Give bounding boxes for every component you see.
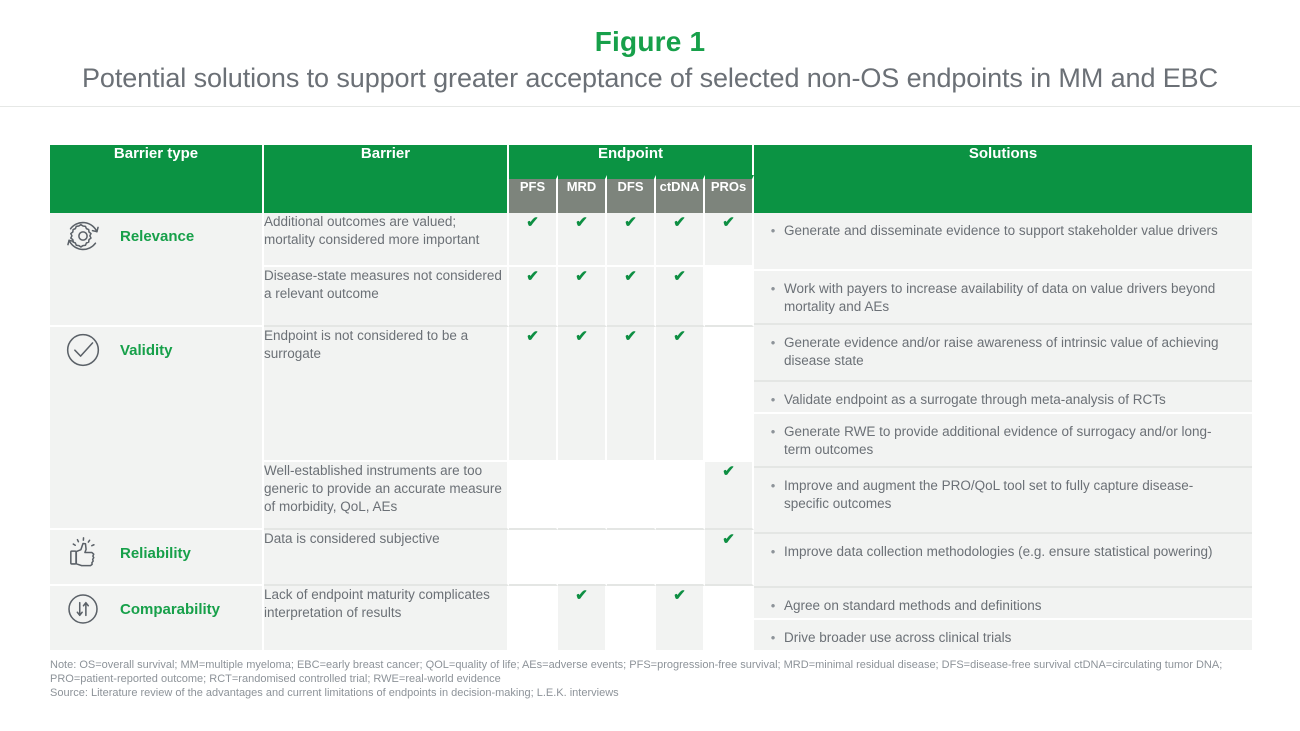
footnote-source: Source: Literature review of the advanta…: [50, 686, 1260, 700]
list-item: • Improve and augment the PRO/QoL tool s…: [754, 468, 1252, 534]
endpoint-check-mrd: ✔: [558, 213, 607, 267]
bullet-icon: •: [762, 597, 784, 614]
table-head-row-1: Barrier type Barrier Endpoint Solutions: [50, 145, 1252, 175]
list-item: • Generate RWE to provide additional evi…: [754, 414, 1252, 468]
endpoint-empty-ctdna: [656, 462, 705, 530]
barrier-cell: Additional outcomes are valued; mortalit…: [264, 213, 509, 267]
endpoint-check-ctdna: ✔: [656, 213, 705, 267]
footnote-note: Note: OS=overall survival; MM=multiple m…: [50, 658, 1260, 686]
bullet-icon: •: [762, 477, 784, 494]
table-row: Relevance Additional outcomes are valued…: [50, 213, 1252, 267]
list-item: • Generate and disseminate evidence to s…: [754, 213, 1252, 271]
column-header-pros: PROs: [705, 175, 754, 213]
list-item: • Agree on standard methods and definiti…: [754, 588, 1252, 620]
endpoint-check-dfs: ✔: [607, 327, 656, 462]
compare-arrows-circle-icon: [60, 586, 106, 632]
endpoint-check-ctdna: ✔: [656, 327, 705, 462]
endpoint-empty-dfs: [607, 530, 656, 586]
endpoint-empty-pros: [705, 586, 754, 652]
barrier-type-label: Reliability: [120, 545, 191, 562]
barrier-cell: Lack of endpoint maturity complicates in…: [264, 586, 509, 652]
barrier-type-label: Validity: [120, 342, 173, 359]
endpoint-empty-dfs: [607, 586, 656, 652]
thumbs-up-icon: [60, 530, 106, 576]
endpoint-check-ctdna: ✔: [656, 267, 705, 327]
table-body: Relevance Additional outcomes are valued…: [50, 213, 1252, 652]
column-header-solutions: Solutions: [754, 145, 1252, 213]
bullet-icon: •: [762, 629, 784, 646]
list-item: • Generate evidence and/or raise awarene…: [754, 325, 1252, 382]
list-item: • Improve data collection methodologies …: [754, 534, 1252, 588]
table-head: Barrier type Barrier Endpoint Solutions …: [50, 145, 1252, 213]
endpoint-check-dfs: ✔: [607, 213, 656, 267]
barrier-cell: Data is considered subjective: [264, 530, 509, 586]
barrier-cell: Disease-state measures not considered a …: [264, 267, 509, 327]
column-header-dfs: DFS: [607, 175, 656, 213]
barrier-type-label: Relevance: [120, 228, 194, 245]
list-item: • Validate endpoint as a surrogate throu…: [754, 382, 1252, 414]
bullet-icon: •: [762, 222, 784, 239]
figure-title: Potential solutions to support greater a…: [0, 61, 1300, 96]
endpoint-empty-mrd: [558, 530, 607, 586]
list-item: • Drive broader use across clinical tria…: [754, 620, 1252, 652]
endpoint-check-mrd: ✔: [558, 267, 607, 327]
endpoints-table: Barrier type Barrier Endpoint Solutions …: [50, 145, 1252, 652]
column-header-pfs: PFS: [509, 175, 558, 213]
column-header-barrier-type: Barrier type: [50, 145, 264, 213]
column-header-barrier: Barrier: [264, 145, 509, 213]
barrier-type-validity: Validity: [50, 327, 264, 530]
column-header-ctdna: ctDNA: [656, 175, 705, 213]
footnote: Note: OS=overall survival; MM=multiple m…: [50, 658, 1260, 700]
endpoint-empty-pros: [705, 327, 754, 462]
figure-table-wrapper: Barrier type Barrier Endpoint Solutions …: [50, 145, 1252, 652]
endpoint-check-ctdna: ✔: [656, 586, 705, 652]
solutions-cell: • Generate and disseminate evidence to s…: [754, 213, 1252, 652]
barrier-type-comparability: Comparability: [50, 586, 264, 652]
figure-label: Figure 1: [0, 24, 1300, 59]
endpoint-check-pros: ✔: [705, 530, 754, 586]
endpoint-empty-mrd: [558, 462, 607, 530]
bullet-icon: •: [762, 280, 784, 297]
barrier-cell: Endpoint is not considered to be a surro…: [264, 327, 509, 462]
bullet-icon: •: [762, 391, 784, 408]
barrier-type-reliability: Reliability: [50, 530, 264, 586]
endpoint-check-pfs: ✔: [509, 267, 558, 327]
gear-cycle-icon: [60, 213, 106, 259]
barrier-type-relevance: Relevance: [50, 213, 264, 327]
list-item: • Work with payers to increase availabil…: [754, 271, 1252, 325]
endpoint-empty-ctdna: [656, 530, 705, 586]
endpoint-check-mrd: ✔: [558, 586, 607, 652]
endpoint-check-pros: ✔: [705, 462, 754, 530]
endpoint-check-pfs: ✔: [509, 213, 558, 267]
barrier-cell: Well-established instruments are too gen…: [264, 462, 509, 530]
check-circle-icon: [60, 327, 106, 373]
endpoint-empty-pfs: [509, 462, 558, 530]
endpoint-empty-pfs: [509, 586, 558, 652]
endpoint-empty-dfs: [607, 462, 656, 530]
endpoint-check-dfs: ✔: [607, 267, 656, 327]
column-header-mrd: MRD: [558, 175, 607, 213]
endpoint-check-mrd: ✔: [558, 327, 607, 462]
figure-header: Figure 1 Potential solutions to support …: [0, 0, 1300, 107]
solutions-list: • Generate and disseminate evidence to s…: [754, 213, 1252, 652]
endpoint-check-pfs: ✔: [509, 327, 558, 462]
barrier-type-label: Comparability: [120, 601, 220, 618]
endpoint-empty-pfs: [509, 530, 558, 586]
endpoint-empty-pros: [705, 267, 754, 327]
endpoint-check-pros: ✔: [705, 213, 754, 267]
column-header-endpoint: Endpoint: [509, 145, 754, 175]
bullet-icon: •: [762, 543, 784, 560]
bullet-icon: •: [762, 423, 784, 440]
bullet-icon: •: [762, 334, 784, 351]
